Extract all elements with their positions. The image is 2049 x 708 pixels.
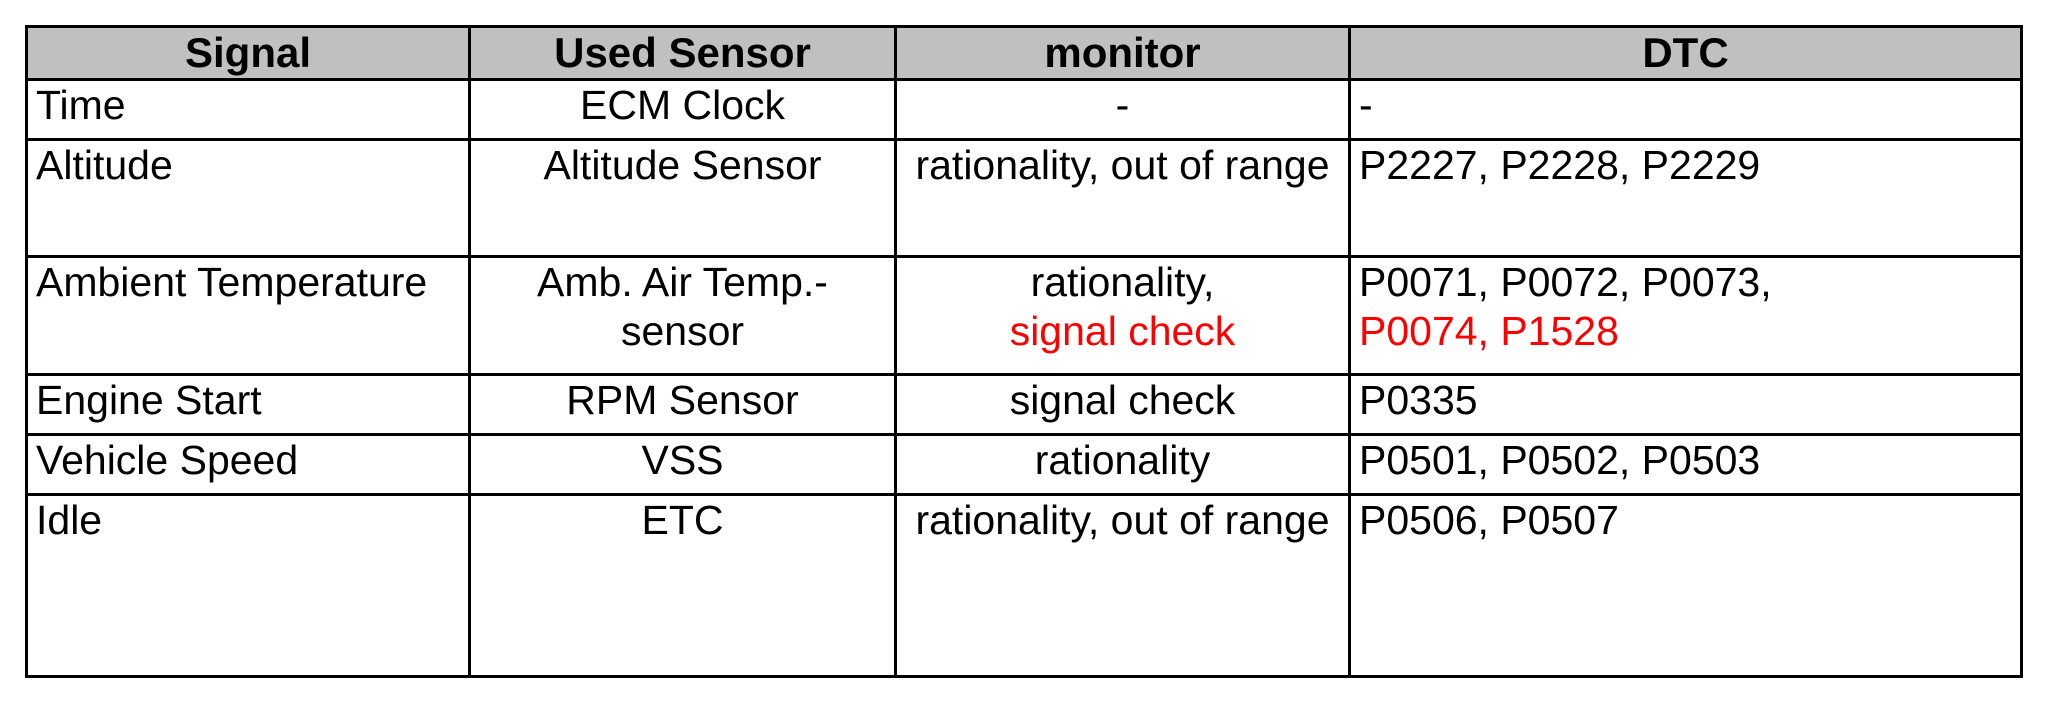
cell-monitor: rationality, out of range <box>896 495 1350 677</box>
table-row: Time ECM Clock - - <box>27 79 2022 139</box>
cell-used-sensor: ECM Clock <box>470 79 896 139</box>
column-header-monitor: monitor <box>896 27 1350 80</box>
column-header-used-sensor: Used Sensor <box>470 27 896 80</box>
monitor-text: rationality, <box>905 258 1340 306</box>
signal-sensor-monitor-dtc-table: Signal Used Sensor monitor DTC Time ECM … <box>25 25 2023 678</box>
page-root: Signal Used Sensor monitor DTC Time ECM … <box>0 0 2049 708</box>
cell-dtc: - <box>1350 79 2022 139</box>
cell-monitor: rationality, out of range <box>896 139 1350 256</box>
cell-signal: Vehicle Speed <box>27 434 470 494</box>
cell-monitor: - <box>896 79 1350 139</box>
table-row: Ambient Temperature Amb. Air Temp.-senso… <box>27 257 2022 374</box>
dtc-text: P0501, P0502, P0503 <box>1359 436 2012 484</box>
cell-dtc: P0335 <box>1350 374 2022 434</box>
table-row: Vehicle Speed VSS rationality P0501, P05… <box>27 434 2022 494</box>
table-header-row: Signal Used Sensor monitor DTC <box>27 27 2022 80</box>
cell-signal: Altitude <box>27 139 470 256</box>
monitor-text: signal check <box>905 376 1340 424</box>
dtc-text: P0335 <box>1359 376 2012 424</box>
cell-signal: Engine Start <box>27 374 470 434</box>
column-header-dtc: DTC <box>1350 27 2022 80</box>
cell-monitor: rationality <box>896 434 1350 494</box>
cell-signal: Idle <box>27 495 470 677</box>
cell-monitor: rationality, signal check <box>896 257 1350 374</box>
cell-used-sensor: RPM Sensor <box>470 374 896 434</box>
cell-dtc: P0501, P0502, P0503 <box>1350 434 2022 494</box>
cell-dtc: P0071, P0072, P0073, P0074, P1528 <box>1350 257 2022 374</box>
cell-dtc: P0506, P0507 <box>1350 495 2022 677</box>
table-container: Signal Used Sensor monitor DTC Time ECM … <box>25 25 2020 678</box>
monitor-text: rationality <box>905 436 1340 484</box>
table-row: Idle ETC rationality, out of range P0506… <box>27 495 2022 677</box>
dtc-text-highlighted: P0074, P1528 <box>1359 307 2012 355</box>
column-header-signal: Signal <box>27 27 470 80</box>
cell-dtc: P2227, P2228, P2229 <box>1350 139 2022 256</box>
cell-signal: Time <box>27 79 470 139</box>
cell-used-sensor: ETC <box>470 495 896 677</box>
table-body: Time ECM Clock - - Altitude Altitude Sen… <box>27 79 2022 676</box>
dtc-text: P2227, P2228, P2229 <box>1359 141 2012 189</box>
table-row: Engine Start RPM Sensor signal check P03… <box>27 374 2022 434</box>
table-row: Altitude Altitude Sensor rationality, ou… <box>27 139 2022 256</box>
dtc-text: - <box>1359 81 2012 129</box>
monitor-text: rationality, out of range <box>905 496 1340 544</box>
dtc-text: P0071, P0072, P0073, <box>1359 258 2012 306</box>
monitor-text: - <box>905 81 1340 129</box>
table-header: Signal Used Sensor monitor DTC <box>27 27 2022 80</box>
cell-used-sensor: VSS <box>470 434 896 494</box>
dtc-text: P0506, P0507 <box>1359 496 2012 544</box>
cell-signal: Ambient Temperature <box>27 257 470 374</box>
cell-monitor: signal check <box>896 374 1350 434</box>
monitor-text: rationality, out of range <box>905 141 1340 189</box>
cell-used-sensor: Altitude Sensor <box>470 139 896 256</box>
cell-used-sensor: Amb. Air Temp.-sensor <box>470 257 896 374</box>
monitor-text-highlighted: signal check <box>905 307 1340 355</box>
